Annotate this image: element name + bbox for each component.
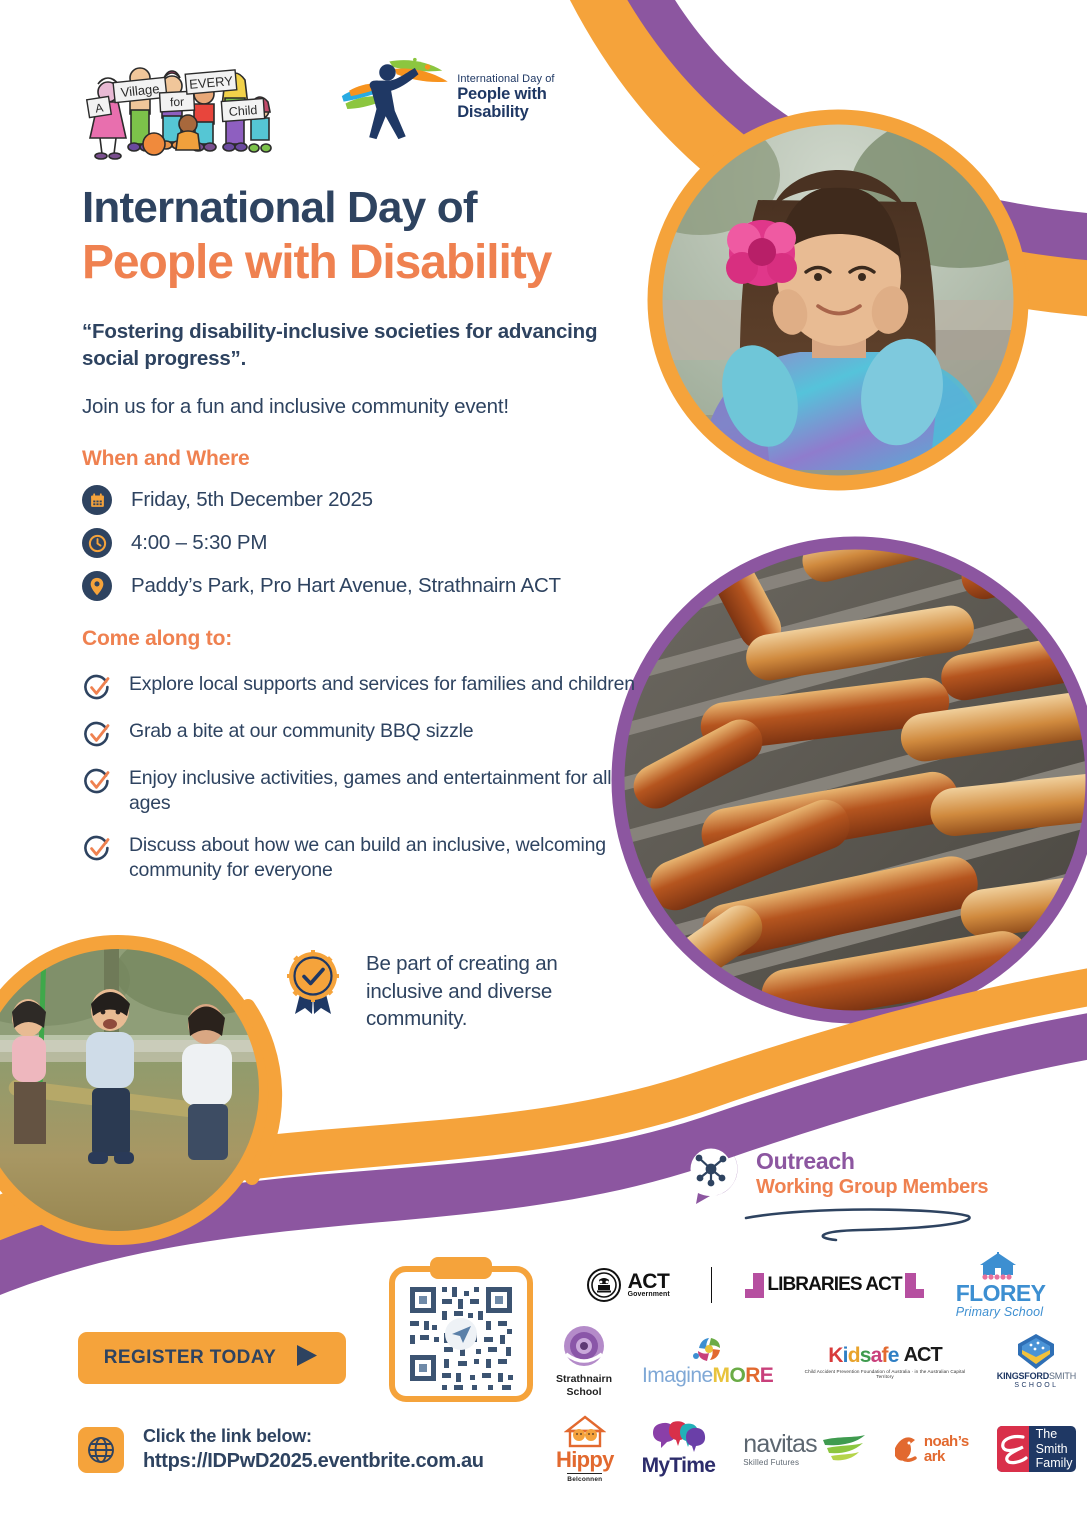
strathnairn-label1: Strathnairn xyxy=(556,1373,612,1385)
partner-logos: ACT Government LIBRARIES ACT xyxy=(556,1256,1076,1490)
globe-icon xyxy=(78,1427,124,1473)
florey-main-text: FLOREY xyxy=(956,1282,1046,1305)
idpwd-logo-line2: People with Disability xyxy=(457,86,608,122)
noahs-ark-wordmark: noah’s ark xyxy=(924,1434,969,1465)
svg-text:for: for xyxy=(170,95,185,110)
event-url[interactable]: https://IDPwD2025.eventbrite.com.au xyxy=(143,1448,484,1475)
register-today-button[interactable]: REGISTER TODAY xyxy=(78,1332,346,1384)
kidsafe-act-logo: Kidsafe ACT Child Accident Prevention Fo… xyxy=(803,1344,967,1379)
logo-row: A Village for EVERY Child xyxy=(82,52,608,164)
partner-logo-row-2: Strathnairn School ImagineMORE xyxy=(556,1318,1076,1404)
check-circle-icon xyxy=(82,834,112,864)
kidsafe-letter-1: K xyxy=(828,1344,842,1367)
list-item-text: Grab a bite at our community BBQ sizzle xyxy=(129,719,473,744)
register-button-label: REGISTER TODAY xyxy=(104,1347,276,1369)
smith-line2: Family xyxy=(1036,1456,1073,1470)
event-date-row: Friday, 5th December 2025 xyxy=(82,485,561,515)
calendar-icon xyxy=(82,485,112,515)
libraries-act-logo: LIBRARIES ACT xyxy=(753,1273,915,1298)
imaginemore-wordmark: ImagineMORE xyxy=(642,1364,773,1388)
kingsford-smith-crest-icon xyxy=(1016,1333,1056,1371)
award-text: Be part of creating an inclusive and div… xyxy=(366,950,616,1033)
link-prompt: Click the link below: xyxy=(143,1424,484,1448)
navitas-swoosh-icon xyxy=(821,1434,867,1464)
kingsford-text: KINGSFORD xyxy=(997,1371,1049,1381)
outreach-group: Outreach Working Group Members xyxy=(680,1140,988,1206)
kidsafe-wordmark: Kidsafe xyxy=(828,1345,898,1366)
navitas-wordmark: navitas Skilled Futures xyxy=(743,1432,817,1467)
hippy-house-icon xyxy=(564,1415,606,1449)
page-title-line2: People with Disability xyxy=(82,236,551,290)
check-circle-icon xyxy=(82,720,112,750)
check-circle-icon xyxy=(82,673,112,703)
mytime-part1: My xyxy=(642,1454,670,1477)
noahs-line2: ark xyxy=(924,1449,969,1464)
noahs-ark-logo: noah’s ark xyxy=(895,1432,969,1466)
event-date-text: Friday, 5th December 2025 xyxy=(131,488,373,512)
navitas-logo: navitas Skilled Futures xyxy=(743,1432,867,1467)
act-crest-icon xyxy=(587,1268,621,1302)
florey-sub-text: Primary School xyxy=(956,1306,1044,1319)
kidsafe-letter-4: s xyxy=(860,1344,871,1367)
award-ribbon-icon xyxy=(282,950,344,1016)
logo-divider xyxy=(711,1267,713,1303)
the-smith-family-logo: The Smith Family xyxy=(997,1426,1076,1472)
kidsafe-letter-3: d xyxy=(848,1344,860,1367)
florey-primary-school-logo: FLOREY Primary School xyxy=(950,1252,1046,1319)
kingsford-smith-school-logo: KINGSFORDSMITH SCHOOL xyxy=(997,1333,1076,1389)
list-item-text: Discuss about how we can build an inclus… xyxy=(129,833,642,884)
location-pin-icon xyxy=(82,571,112,601)
poster-root: A Village for EVERY Child xyxy=(0,0,1087,1536)
outreach-line1: Outreach xyxy=(756,1147,988,1175)
underline-squiggle-icon xyxy=(740,1208,980,1242)
mytime-part2: Time xyxy=(669,1454,715,1477)
kidsafe-letter-7: e xyxy=(888,1344,899,1367)
event-time-row: 4:00 – 5:30 PM xyxy=(82,528,561,558)
clock-icon xyxy=(82,528,112,558)
event-location-row: Paddy’s Park, Pro Hart Avenue, Strathnai… xyxy=(82,571,561,601)
partner-logo-row-3: Hippy Belconnen MyTime navitas Skilled F… xyxy=(556,1408,1076,1490)
check-circle-icon xyxy=(82,767,112,797)
act-government-logo: ACT Government xyxy=(587,1268,670,1302)
strathnairn-school-logo: Strathnairn School xyxy=(556,1324,612,1397)
smith-family-hands-icon xyxy=(997,1426,1029,1472)
list-item-text: Explore local supports and services for … xyxy=(129,672,635,697)
hippy-main-text: Hippy xyxy=(556,1449,614,1471)
when-and-where-list: Friday, 5th December 2025 4:00 – 5:30 PM… xyxy=(82,485,561,601)
imagine-text: Imagine xyxy=(642,1364,713,1388)
page-title-line1: International Day of xyxy=(82,183,477,232)
svg-text:Child: Child xyxy=(228,103,257,119)
outreach-line2: Working Group Members xyxy=(756,1175,988,1199)
mytime-wordmark: MyTime xyxy=(642,1454,716,1478)
link-text-group: Click the link below: https://IDPwD2025.… xyxy=(143,1424,484,1475)
smith-text: SMITH xyxy=(1049,1371,1076,1381)
kingsford-smith-sub: SCHOOL xyxy=(1014,1382,1058,1389)
award-callout: Be part of creating an inclusive and div… xyxy=(282,950,616,1033)
theme-quote: “Fostering disability-inclusive societie… xyxy=(82,318,622,372)
play-arrow-icon xyxy=(293,1342,320,1374)
kidsafe-act-text: ACT xyxy=(904,1344,942,1367)
imaginemore-logo: ImagineMORE xyxy=(642,1334,773,1388)
list-item: Enjoy inclusive activities, games and en… xyxy=(82,766,642,817)
smith-line1: The Smith xyxy=(1036,1427,1073,1456)
list-item: Grab a bite at our community BBQ sizzle xyxy=(82,719,642,750)
more-letter-o: O xyxy=(729,1364,745,1388)
a-village-for-every-child-logo: A Village for EVERY Child xyxy=(82,52,278,164)
act-main-text: ACT xyxy=(628,1272,670,1292)
qr-code-icon[interactable] xyxy=(388,1255,534,1403)
imaginemore-pinwheel-icon xyxy=(691,1334,725,1364)
list-item: Discuss about how we can build an inclus… xyxy=(82,833,642,884)
partner-logo-row-1: ACT Government LIBRARIES ACT xyxy=(556,1256,1076,1314)
girl-with-flower-photo xyxy=(620,112,1070,495)
act-wordmark: ACT Government xyxy=(628,1272,670,1299)
mytime-speech-bubbles-icon xyxy=(649,1420,707,1454)
children-playing-photo xyxy=(0,928,285,1242)
libraries-act-text: LIBRARIES ACT xyxy=(767,1274,901,1296)
florey-schoolhouse-icon xyxy=(972,1252,1024,1282)
idpwd-logo-text: International Day of People with Disabil… xyxy=(457,74,608,122)
navitas-sub-text: Skilled Futures xyxy=(743,1459,799,1467)
more-letter-m: M xyxy=(713,1364,730,1388)
strathnairn-label2: School xyxy=(556,1386,612,1398)
hippy-belconnen-logo: Hippy Belconnen xyxy=(556,1415,614,1483)
strathnairn-spiral-icon xyxy=(560,1324,608,1370)
tagline: Join us for a fun and inclusive communit… xyxy=(82,394,642,421)
event-location-text: Paddy’s Park, Pro Hart Avenue, Strathnai… xyxy=(131,574,561,598)
kidsafe-fineprint: Child Accident Prevention Foundation of … xyxy=(803,1369,967,1379)
kidsafe-letter-5: a xyxy=(871,1344,882,1367)
noahs-line1: noah’s xyxy=(924,1434,969,1449)
navitas-main-text: navitas xyxy=(743,1432,817,1457)
libraries-right-mark-icon xyxy=(905,1273,916,1298)
strathnairn-label: Strathnairn School xyxy=(556,1373,612,1397)
list-item-text: Enjoy inclusive activities, games and en… xyxy=(129,766,642,817)
libraries-left-mark-icon xyxy=(753,1273,764,1298)
mytime-logo: MyTime xyxy=(642,1420,716,1478)
idpwd-logo: International Day of People with Disabil… xyxy=(340,52,608,144)
kingsford-smith-wordmark: KINGSFORDSMITH xyxy=(997,1371,1076,1381)
hippy-sub-text: Belconnen xyxy=(567,1473,602,1483)
when-and-where-heading: When and Where xyxy=(82,447,250,471)
list-item: Explore local supports and services for … xyxy=(82,672,642,703)
outreach-text: Outreach Working Group Members xyxy=(756,1147,988,1199)
come-along-heading: Come along to: xyxy=(82,627,232,651)
florey-wordmark: FLOREY Primary School xyxy=(956,1282,1046,1319)
event-time-text: 4:00 – 5:30 PM xyxy=(131,531,267,555)
act-sub-text: Government xyxy=(628,1292,670,1299)
more-letter-r: R xyxy=(745,1364,760,1388)
more-letter-e: E xyxy=(760,1364,773,1388)
smith-family-wordmark: The Smith Family xyxy=(1029,1427,1076,1470)
event-link-block[interactable]: Click the link below: https://IDPwD2025.… xyxy=(78,1424,484,1475)
noahs-ark-bird-icon xyxy=(895,1432,921,1466)
network-node-icon xyxy=(680,1140,742,1206)
come-along-list: Explore local supports and services for … xyxy=(82,672,642,883)
